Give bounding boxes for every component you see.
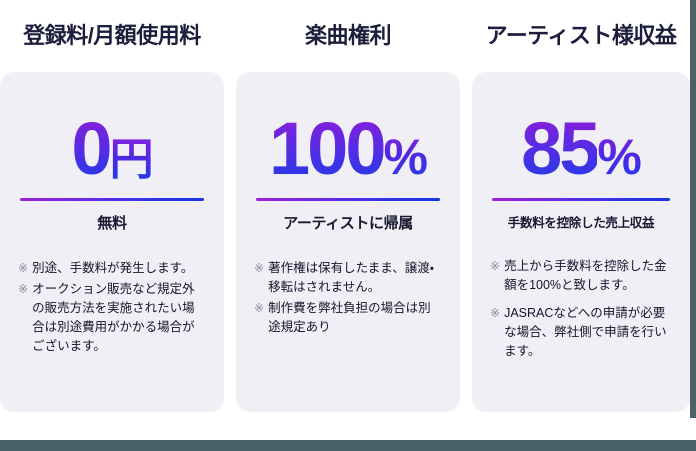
note-item: ※ オークション販売など規定外の販売方法を実施されたい場合は別途費用がかかる場合… [18,280,206,356]
note-text: 別途、手数料が発生します。 [32,259,206,278]
stat-number-artist-revenue: 85 [521,107,597,190]
sub-label-artist-revenue: 手数料を控除した売上収益 [490,212,672,231]
note-item: ※ 著作権は保有したまま、譲渡・移転はされません。 [254,259,442,297]
card-heading-music-rights: 楽曲権利 [236,0,460,72]
pricing-feature-panel: 登録料/月額使用料 0円 無料 ※ 別途、手数料が発生します。 ※ オークション… [0,0,690,440]
stat-registration-fee: 0円 [18,112,206,186]
note-mark-icon: ※ [490,257,500,276]
note-text: 著作権は保有したまま、譲渡・移転はされません。 [268,259,442,297]
note-mark-icon: ※ [18,259,28,278]
card-heading-artist-revenue: アーティスト様収益 [472,0,690,72]
stat-music-rights: 100% [254,112,442,186]
notes-registration-fee: ※ 別途、手数料が発生します。 ※ オークション販売など規定外の販売方法を実施さ… [18,259,206,356]
stat-unit-registration-fee: 円 [110,135,153,184]
note-item: ※ JASRACなどへの申請が必要な場合、弊社側で申請を行います。 [490,304,672,361]
card-grid: 登録料/月額使用料 0円 無料 ※ 別途、手数料が発生します。 ※ オークション… [0,0,690,412]
card-body-music-rights: 100% アーティストに帰属 ※ 著作権は保有したまま、譲渡・移転はされません。… [236,72,460,412]
note-mark-icon: ※ [254,259,264,278]
note-item: ※ 売上から手数料を控除した金額を100%と致します。 [490,257,672,295]
note-mark-icon: ※ [254,299,264,318]
sub-label-registration-fee: 無料 [18,212,206,233]
card-music-rights: 楽曲権利 100% アーティストに帰属 ※ 著作権は保有したまま、譲渡・移転はさ… [236,0,460,412]
card-body-artist-revenue: 85% 手数料を控除した売上収益 ※ 売上から手数料を控除した金額を100%と致… [472,72,690,412]
vertical-scrollbar-thumb[interactable] [690,0,696,418]
card-heading-registration-fee: 登録料/月額使用料 [0,0,224,72]
note-mark-icon: ※ [18,280,28,299]
stat-unit-artist-revenue: % [597,129,640,185]
divider-artist-revenue [492,198,670,201]
stat-number-registration-fee: 0 [71,107,109,190]
note-text: 制作費を弊社負担の場合は別途規定あり [268,299,442,337]
horizontal-scrollbar-thumb[interactable] [0,440,696,451]
notes-music-rights: ※ 著作権は保有したまま、譲渡・移転はされません。 ※ 制作費を弊社負担の場合は… [254,259,442,337]
divider-registration-fee [20,198,204,201]
notes-artist-revenue: ※ 売上から手数料を控除した金額を100%と致します。 ※ JASRACなどへの… [490,257,672,361]
note-item: ※ 別途、手数料が発生します。 [18,259,206,278]
card-artist-revenue: アーティスト様収益 85% 手数料を控除した売上収益 ※ 売上から手数料を控除し… [472,0,690,412]
stat-unit-music-rights: % [384,129,427,185]
divider-music-rights [256,198,440,201]
note-text: オークション販売など規定外の販売方法を実施されたい場合は別途費用がかかる場合がご… [32,280,206,356]
stat-number-music-rights: 100 [269,107,383,190]
note-item: ※ 制作費を弊社負担の場合は別途規定あり [254,299,442,337]
card-body-registration-fee: 0円 無料 ※ 別途、手数料が発生します。 ※ オークション販売など規定外の販売… [0,72,224,412]
note-text: 売上から手数料を控除した金額を100%と致します。 [504,257,672,295]
card-registration-fee: 登録料/月額使用料 0円 無料 ※ 別途、手数料が発生します。 ※ オークション… [0,0,224,412]
vertical-scrollbar[interactable] [690,0,696,451]
note-mark-icon: ※ [490,304,500,323]
sub-label-music-rights: アーティストに帰属 [254,212,442,233]
stat-artist-revenue: 85% [490,112,672,186]
horizontal-scrollbar[interactable] [0,440,696,451]
note-text: JASRACなどへの申請が必要な場合、弊社側で申請を行います。 [504,304,672,361]
